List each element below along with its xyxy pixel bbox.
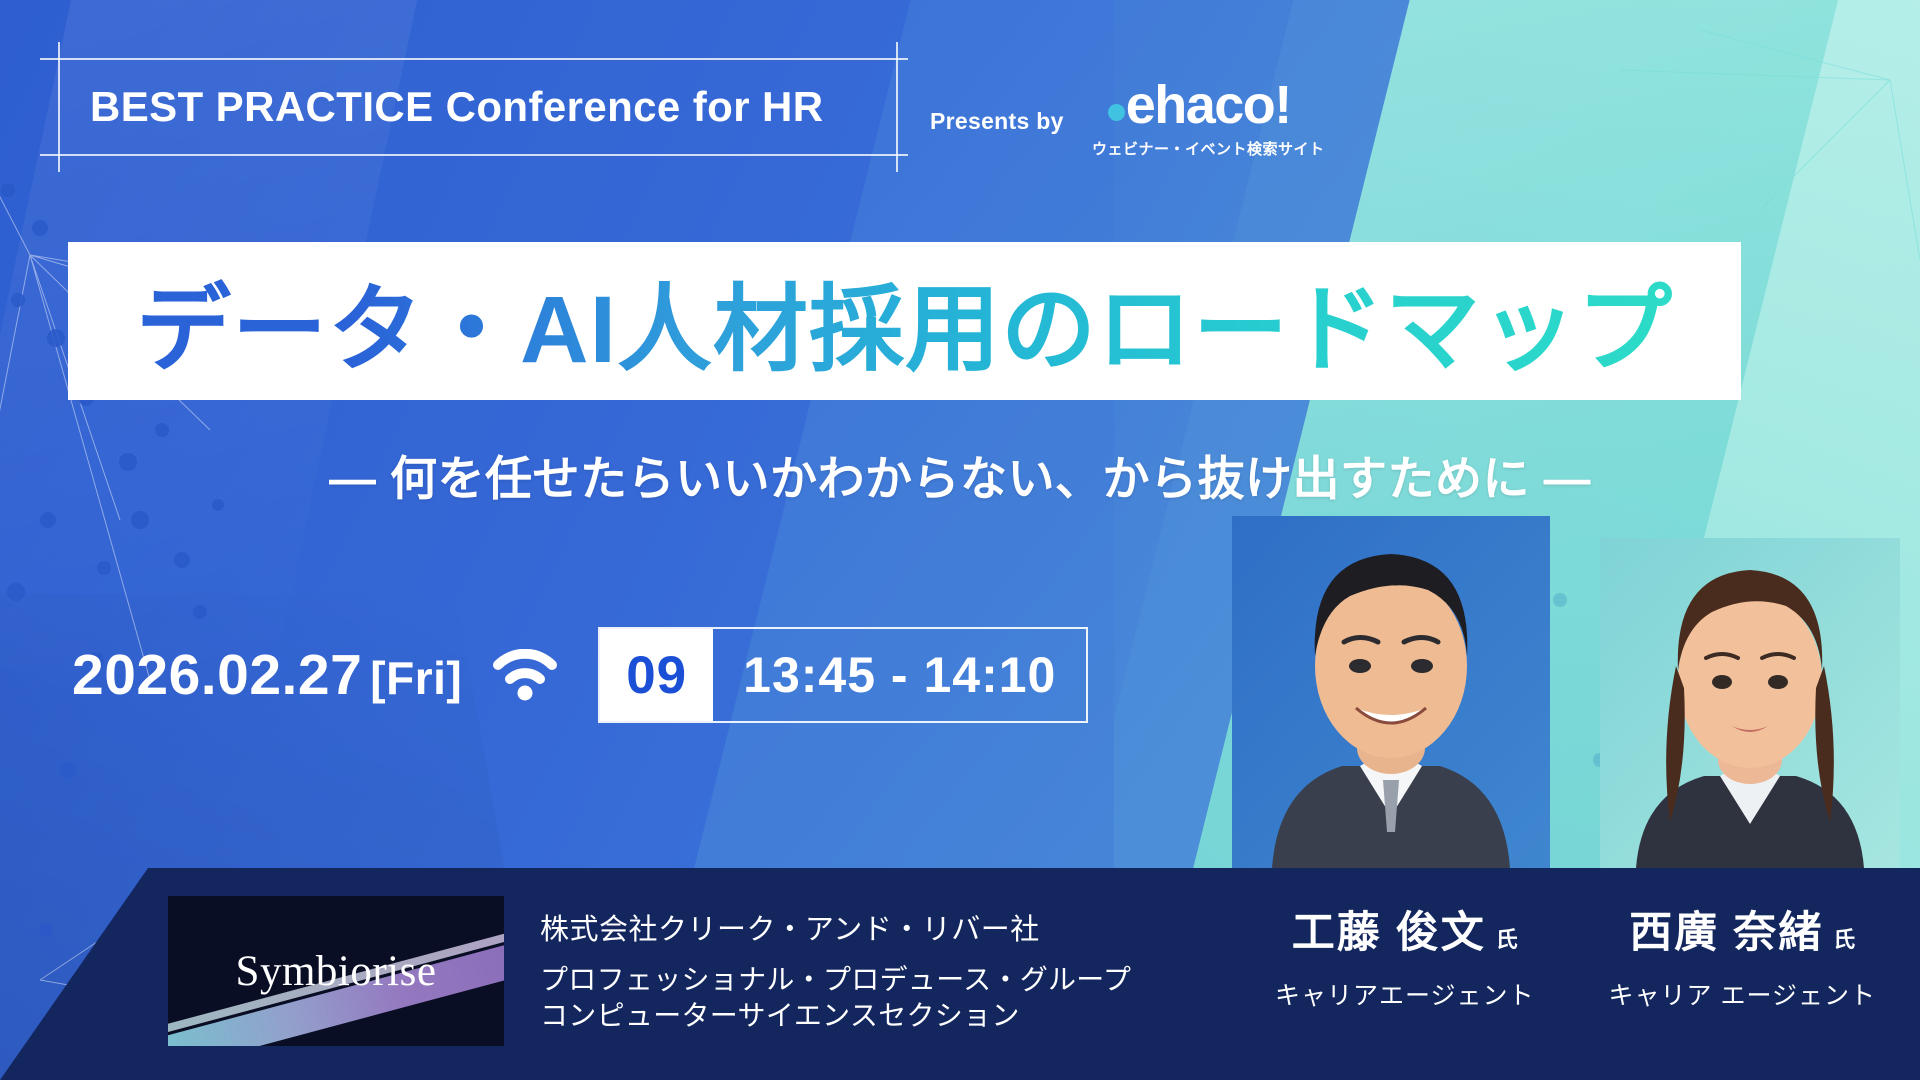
sponsor-logo-wordmark: ehaco! xyxy=(1092,78,1325,132)
speaker-item: 西廣 奈緒氏 キャリア エージェント xyxy=(1609,898,1876,1012)
company-department-line2: コンピューターサイエンスセクション xyxy=(540,998,1131,1034)
speaker-name: 工藤 俊文氏 xyxy=(1275,898,1535,960)
frame-line-left xyxy=(58,42,60,172)
company-name: 株式会社クリーク・アンド・リバー社 xyxy=(540,906,1131,948)
sponsor-logo-text: ehaco! xyxy=(1126,75,1291,135)
speaker-item: 工藤 俊文氏 キャリアエージェント xyxy=(1275,898,1535,1012)
event-date: 2026.02.27[Fri] xyxy=(72,642,462,708)
session-time-range: 13:45 - 14:10 xyxy=(713,629,1086,721)
presents-by-label: Presents by xyxy=(930,108,1064,135)
footer-content: Symbiorise 株式会社クリーク・アンド・リバー社 プロフェッショナル・プ… xyxy=(0,868,1920,1080)
session-number: 09 xyxy=(600,629,713,721)
conference-title: BEST PRACTICE Conference for HR xyxy=(90,83,823,131)
schedule-row: 2026.02.27[Fri] 09 13:45 - 14:10 xyxy=(72,627,1088,723)
symbiorise-logo: Symbiorise xyxy=(168,896,504,1046)
speaker-list: 工藤 俊文氏 キャリアエージェント 西廣 奈緒氏 キャリア エージェント xyxy=(1275,898,1876,1012)
speaker-photo-kudo xyxy=(1232,516,1550,868)
company-department-line1: プロフェッショナル・プロデュース・グループ xyxy=(540,962,1131,998)
webinar-promo-banner: BEST PRACTICE Conference for HR Presents… xyxy=(0,0,1920,1080)
frame-line-right xyxy=(896,42,898,172)
header-frame: BEST PRACTICE Conference for HR xyxy=(58,58,898,156)
speaker-photo-nishihiro xyxy=(1600,538,1900,868)
event-date-value: 2026.02.27 xyxy=(72,643,362,707)
event-day-of-week: [Fri] xyxy=(370,652,462,704)
frame-line-bottom xyxy=(40,154,908,156)
symbiorise-logo-text: Symbiorise xyxy=(236,947,437,996)
speaker-name-text: 工藤 俊文 xyxy=(1292,909,1486,957)
session-time-box: 09 13:45 - 14:10 xyxy=(598,627,1088,723)
company-info: 株式会社クリーク・アンド・リバー社 プロフェッショナル・プロデュース・グループ … xyxy=(540,906,1131,1034)
speaker-name-text: 西廣 奈緒 xyxy=(1629,909,1823,957)
speaker-role: キャリア エージェント xyxy=(1609,976,1876,1012)
company-department: プロフェッショナル・プロデュース・グループ コンピューターサイエンスセクション xyxy=(540,962,1131,1034)
main-subtitle: — 何を任せたらいいかわからない、から抜け出すために — xyxy=(0,440,1920,509)
speaker-role: キャリアエージェント xyxy=(1275,976,1535,1012)
sponsor-logo[interactable]: ehaco! ウェビナー・イベント検索サイト xyxy=(1092,78,1325,159)
sponsor-tagline: ウェビナー・イベント検索サイト xyxy=(1092,138,1325,159)
main-title: データ・AI人材採用のロードマップ xyxy=(136,253,1673,390)
frame-line-top xyxy=(40,58,908,60)
sponsor-logo-dot-icon xyxy=(1108,104,1125,121)
wifi-icon xyxy=(492,649,558,701)
main-title-plate: データ・AI人材採用のロードマップ xyxy=(68,242,1741,400)
speaker-name: 西廣 奈緒氏 xyxy=(1609,898,1876,960)
speaker-honorific: 氏 xyxy=(1496,927,1518,952)
speaker-honorific: 氏 xyxy=(1833,927,1855,952)
